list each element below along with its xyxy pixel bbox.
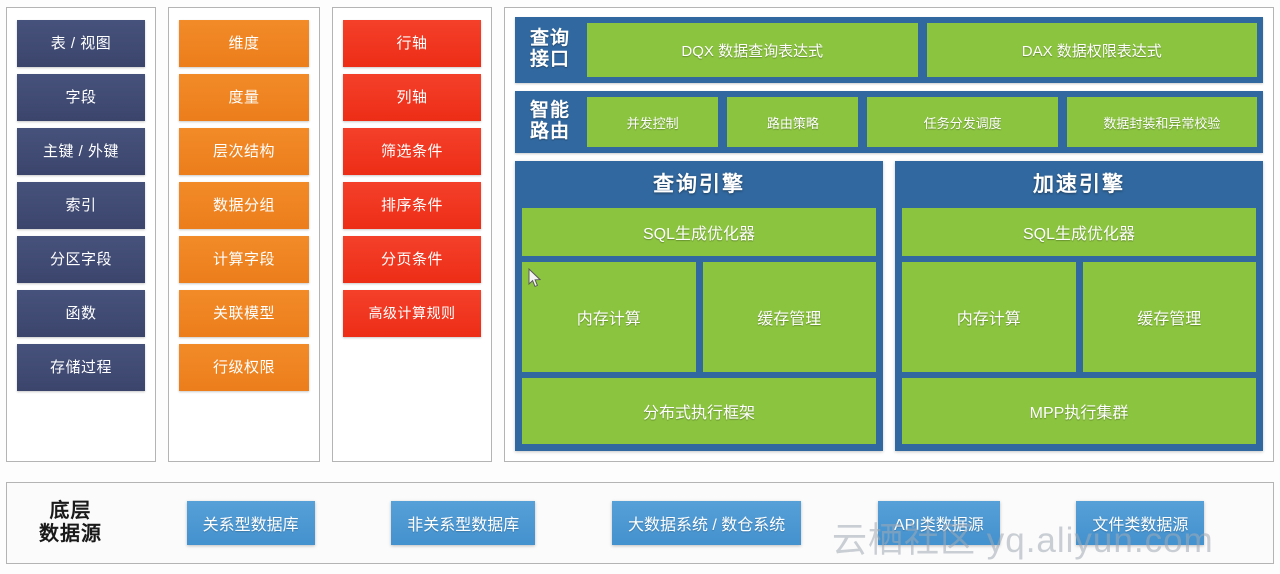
chip-dimension[interactable]: 维度 [179,20,309,67]
query-interface-title-line1: 查询 [530,29,570,50]
datasource-title-line1: 底层 [39,500,102,523]
box-mpp-execution-cluster[interactable]: MPP执行集群 [902,378,1256,444]
ds-bigdata-warehouse[interactable]: 大数据系统 / 数仓系统 [612,501,801,545]
diagram-root: 表 / 视图 字段 主键 / 外键 索引 分区字段 函数 存储过程 维度 度量 … [0,0,1280,574]
datasource-bar-title: 底层 数据源 [39,500,102,546]
chip-index[interactable]: 索引 [17,182,145,229]
box-data-encapsulation-validation[interactable]: 数据封装和异常校验 [1067,97,1257,147]
box-dqx-expression[interactable]: DQX 数据查询表达式 [587,23,918,77]
query-interface-items: DQX 数据查询表达式 DAX 数据权限表达式 [587,23,1257,77]
chip-advanced-calc-rule[interactable]: 高级计算规则 [343,290,481,337]
smart-routing-title: 智能 路由 [521,97,579,147]
box-accel-cache-management[interactable]: 缓存管理 [1083,262,1257,372]
box-query-cache-management[interactable]: 缓存管理 [703,262,877,372]
acceleration-engine-row-bottom: MPP执行集群 [902,378,1256,444]
chip-field[interactable]: 字段 [17,74,145,121]
smart-routing-items: 并发控制 路由策略 任务分发调度 数据封装和异常校验 [587,97,1257,147]
acceleration-engine-title: 加速引擎 [902,168,1256,202]
acceleration-engine-row-top: SQL生成优化器 [902,208,1256,256]
top-area: 表 / 视图 字段 主键 / 外键 索引 分区字段 函数 存储过程 维度 度量 … [0,0,1280,470]
query-engine-title: 查询引擎 [522,168,876,202]
box-accel-memory-compute[interactable]: 内存计算 [902,262,1076,372]
query-engine-row-top: SQL生成优化器 [522,208,876,256]
chip-measure[interactable]: 度量 [179,74,309,121]
smart-routing-title-line1: 智能 [530,101,570,122]
chip-stored-procedure[interactable]: 存储过程 [17,344,145,391]
acceleration-engine-row-middle: 内存计算 缓存管理 [902,262,1256,372]
chip-paging-condition[interactable]: 分页条件 [343,236,481,283]
chip-table-view[interactable]: 表 / 视图 [17,20,145,67]
query-definition-column: 行轴 列轴 筛选条件 排序条件 分页条件 高级计算规则 [332,7,492,462]
engines-row: 查询引擎 SQL生成优化器 内存计算 缓存管理 分布式执行框架 加速引擎 [515,161,1263,451]
ds-api-datasource[interactable]: API类数据源 [878,501,1000,545]
box-task-dispatch-schedule[interactable]: 任务分发调度 [867,97,1057,147]
chip-partition-field[interactable]: 分区字段 [17,236,145,283]
box-routing-strategy[interactable]: 路由策略 [727,97,858,147]
query-engine-row-bottom: 分布式执行框架 [522,378,876,444]
box-query-sql-optimizer[interactable]: SQL生成优化器 [522,208,876,256]
chip-row-level-permission[interactable]: 行级权限 [179,344,309,391]
chip-row-axis[interactable]: 行轴 [343,20,481,67]
chip-primary-foreign-key[interactable]: 主键 / 外键 [17,128,145,175]
ds-relational-database[interactable]: 关系型数据库 [187,501,315,545]
box-distributed-execution-framework[interactable]: 分布式执行框架 [522,378,876,444]
engine-panel: 查询 接口 DQX 数据查询表达式 DAX 数据权限表达式 智能 路由 并发控制… [504,7,1274,462]
datasource-title-line2: 数据源 [39,523,102,546]
query-engine-row-middle: 内存计算 缓存管理 [522,262,876,372]
ds-non-relational-database[interactable]: 非关系型数据库 [391,501,535,545]
chip-function[interactable]: 函数 [17,290,145,337]
chip-relation-model[interactable]: 关联模型 [179,290,309,337]
chip-sort-condition[interactable]: 排序条件 [343,182,481,229]
box-concurrency-control[interactable]: 并发控制 [587,97,718,147]
box-query-memory-compute[interactable]: 内存计算 [522,262,696,372]
query-engine: 查询引擎 SQL生成优化器 内存计算 缓存管理 分布式执行框架 [515,161,883,451]
chip-data-group[interactable]: 数据分组 [179,182,309,229]
smart-routing-band: 智能 路由 并发控制 路由策略 任务分发调度 数据封装和异常校验 [515,91,1263,153]
datasource-bar: 底层 数据源 关系型数据库 非关系型数据库 大数据系统 / 数仓系统 API类数… [6,482,1274,564]
chip-hierarchy[interactable]: 层次结构 [179,128,309,175]
smart-routing-title-line2: 路由 [530,122,570,143]
table-metadata-column: 表 / 视图 字段 主键 / 外键 索引 分区字段 函数 存储过程 [6,7,156,462]
chip-filter-condition[interactable]: 筛选条件 [343,128,481,175]
chip-column-axis[interactable]: 列轴 [343,74,481,121]
chip-calculated-field[interactable]: 计算字段 [179,236,309,283]
query-interface-title-line2: 接口 [530,50,570,71]
query-interface-title: 查询 接口 [521,23,579,77]
acceleration-engine: 加速引擎 SQL生成优化器 内存计算 缓存管理 MPP执行集群 [895,161,1263,451]
query-interface-band: 查询 接口 DQX 数据查询表达式 DAX 数据权限表达式 [515,17,1263,83]
box-dax-expression[interactable]: DAX 数据权限表达式 [927,23,1258,77]
box-accel-sql-optimizer[interactable]: SQL生成优化器 [902,208,1256,256]
data-model-column: 维度 度量 层次结构 数据分组 计算字段 关联模型 行级权限 [168,7,320,462]
ds-file-datasource[interactable]: 文件类数据源 [1076,501,1204,545]
